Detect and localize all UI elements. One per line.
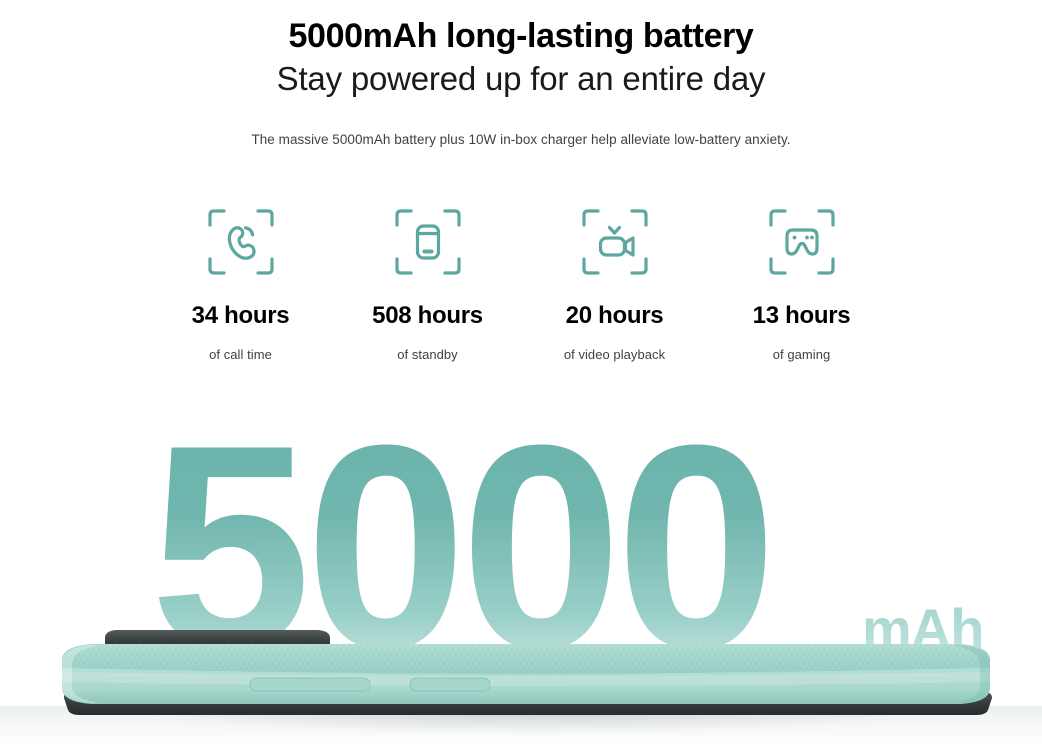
page-subtitle: Stay powered up for an entire day xyxy=(0,58,1042,99)
stat-label: of gaming xyxy=(773,347,831,362)
page-title: 5000mAh long-lasting battery xyxy=(0,16,1042,56)
stat-value: 34 hours xyxy=(192,303,290,329)
phone-call-icon xyxy=(204,205,278,279)
phone-standby-icon xyxy=(391,205,465,279)
stat-item-gaming: 13 hours of gaming xyxy=(708,205,895,362)
power-button xyxy=(410,678,490,691)
video-camera-icon xyxy=(578,205,652,279)
gamepad-icon xyxy=(765,205,839,279)
stat-value: 20 hours xyxy=(566,303,664,329)
battery-feature-page: 5000mAh long-lasting battery Stay powere… xyxy=(0,0,1042,749)
page-description: The massive 5000mAh battery plus 10W in-… xyxy=(0,132,1042,147)
stat-value: 508 hours xyxy=(372,303,483,329)
battery-stats-row: 34 hours of call time 508 hour xyxy=(147,205,895,362)
stat-value: 13 hours xyxy=(753,303,851,329)
volume-button xyxy=(250,678,370,691)
header: 5000mAh long-lasting battery Stay powere… xyxy=(0,0,1042,147)
stat-label: of video playback xyxy=(564,347,665,362)
stat-label: of call time xyxy=(209,347,272,362)
phone-product-image xyxy=(0,600,1042,749)
stat-item-video-playback: 20 hours of video playback xyxy=(521,205,708,362)
stat-label: of standby xyxy=(397,347,458,362)
stat-item-call-time: 34 hours of call time xyxy=(147,205,334,362)
stat-item-standby: 508 hours of standby xyxy=(334,205,521,362)
